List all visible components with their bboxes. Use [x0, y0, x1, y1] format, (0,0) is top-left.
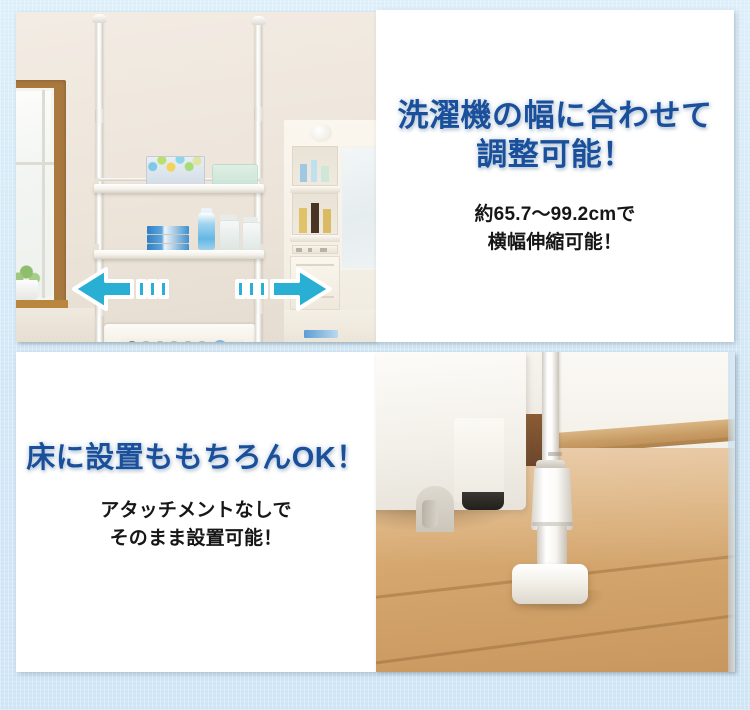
drain-hose: [422, 500, 438, 528]
width-subtext-line-2: 横幅伸縮可能！: [474, 229, 635, 257]
toiletry-bottles-upper: [298, 156, 334, 182]
pole-joint-left-upper: [95, 109, 104, 123]
vanity-shelf-lower: [290, 235, 340, 242]
counter-item: [304, 330, 338, 338]
floor-headline: 床に設置ももちろんOK！: [26, 440, 366, 477]
floor-headline-line-1: 床に設置ももちろんOK！: [26, 440, 366, 477]
floor-subtext-line-1: アタッチメントなしで: [100, 497, 291, 525]
glass-jar: [219, 220, 240, 252]
floor-subtext: アタッチメントなしで そのまま設置可能！: [100, 497, 291, 552]
pole-joint-right-upper: [254, 107, 263, 121]
potted-plant-pot: [16, 280, 38, 300]
vanity-control-buttons: [296, 248, 334, 252]
window-sash: [16, 162, 54, 165]
detergent-box: [147, 235, 189, 243]
floor-subtext-line-2: そのまま設置可能！: [100, 525, 291, 553]
floor-plank-seam: [376, 609, 735, 667]
detergent-bottle: [198, 213, 215, 250]
clothespins: [147, 156, 204, 177]
laundry-room-photo: [16, 12, 376, 342]
vanity-shelf-upper: [290, 186, 340, 193]
window-mullion: [42, 90, 45, 298]
clothespin-basket: [146, 156, 205, 186]
pole-cap-right: [251, 16, 266, 25]
green-storage-tray: [212, 164, 258, 186]
pole-base-on-floor-photo: [376, 352, 735, 672]
expand-arrow-right: [228, 264, 334, 319]
pole-label: [548, 452, 562, 456]
toiletry-bottles-lower: [297, 200, 335, 233]
washing-machine-foot: [462, 492, 504, 510]
shelf-upper: [94, 184, 264, 193]
detergent-box: [147, 226, 189, 234]
width-adjust-text-panel: 洗濯機の幅に合わせて 調整可能！ 約65.7〜99.2cmで 横幅伸縮可能！: [376, 10, 734, 342]
glass-jar: [242, 222, 261, 252]
width-headline-line-2: 調整可能！: [398, 135, 713, 175]
washing-machine-dial: [214, 340, 226, 342]
floor-install-text-panel: 床に設置ももちろんOK！ アタッチメントなしで そのまま設置可能！: [16, 352, 376, 672]
vanity-light: [310, 124, 332, 142]
pole-collar: [531, 468, 573, 530]
pole-base-plate: [512, 564, 588, 604]
photo-right-edge: [728, 352, 735, 672]
pole-cap-left: [92, 14, 107, 23]
width-headline-line-1: 洗濯機の幅に合わせて: [398, 96, 713, 136]
washing-machine-buttons: [126, 341, 206, 342]
expand-arrow-left: [70, 264, 176, 319]
width-subtext: 約65.7〜99.2cmで 横幅伸縮可能！: [474, 201, 635, 256]
vanity-mirror: [340, 146, 376, 270]
pole-upper-tube: [542, 352, 559, 464]
width-headline: 洗濯機の幅に合わせて 調整可能！: [398, 96, 713, 175]
width-subtext-line-1: 約65.7〜99.2cmで: [474, 201, 635, 229]
shelf-lower: [94, 250, 264, 259]
washing-machine-skirt: [454, 418, 504, 502]
